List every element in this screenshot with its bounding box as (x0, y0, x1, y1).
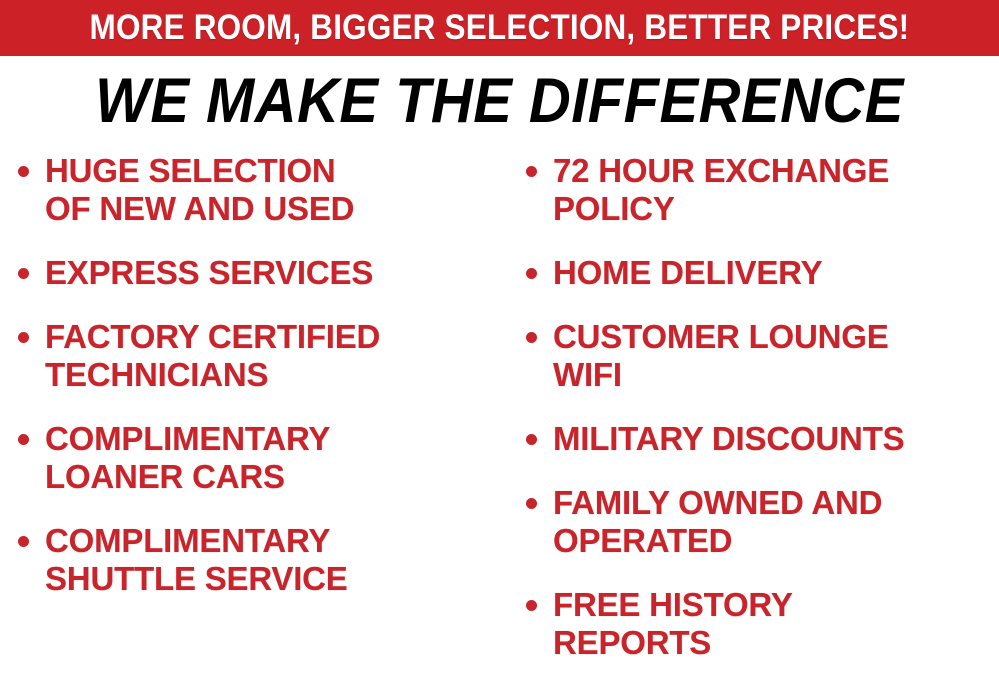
list-item: FACTORY CERTIFIED TECHNICIANS (18, 318, 508, 394)
list-item: 72 HOUR EXCHANGE POLICY (526, 152, 999, 228)
bullet-dot-icon (526, 166, 537, 177)
list-item: FAMILY OWNED AND OPERATED (526, 484, 999, 560)
list-item: COMPLIMENTARY SHUTTLE SERVICE (18, 522, 508, 598)
list-item-label: COMPLIMENTARY LOANER CARS (45, 420, 330, 496)
list-item-label: FAMILY OWNED AND OPERATED (553, 484, 882, 560)
bullet-dot-icon (526, 332, 537, 343)
feature-columns: HUGE SELECTION OF NEW AND USED EXPRESS S… (0, 152, 999, 692)
list-item: CUSTOMER LOUNGE WIFI (526, 318, 999, 394)
list-item: COMPLIMENTARY LOANER CARS (18, 420, 508, 496)
bullet-dot-icon (526, 434, 537, 445)
list-item: HUGE SELECTION OF NEW AND USED (18, 152, 508, 228)
bullet-dot-icon (18, 434, 29, 445)
list-item-label: CUSTOMER LOUNGE WIFI (553, 318, 889, 394)
list-item: EXPRESS SERVICES (18, 254, 508, 292)
list-item-label: FACTORY CERTIFIED TECHNICIANS (45, 318, 380, 394)
bullet-dot-icon (526, 268, 537, 279)
feature-column-left: HUGE SELECTION OF NEW AND USED EXPRESS S… (0, 152, 508, 624)
feature-column-right: 72 HOUR EXCHANGE POLICY HOME DELIVERY CU… (508, 152, 999, 688)
list-item-label: EXPRESS SERVICES (45, 254, 373, 292)
promo-banner: MORE ROOM, BIGGER SELECTION, BETTER PRIC… (0, 0, 999, 56)
bullet-dot-icon (18, 166, 29, 177)
bullet-dot-icon (18, 332, 29, 343)
list-item-label: 72 HOUR EXCHANGE POLICY (553, 152, 889, 228)
headline-container: WE MAKE THE DIFFERENCE (0, 60, 999, 142)
list-item-label: MILITARY DISCOUNTS (553, 420, 904, 458)
list-item-label: COMPLIMENTARY SHUTTLE SERVICE (45, 522, 348, 598)
list-item: MILITARY DISCOUNTS (526, 420, 999, 458)
list-item-label: FREE HISTORY REPORTS (553, 586, 793, 662)
bullet-dot-icon (526, 498, 537, 509)
list-item-label: HOME DELIVERY (553, 254, 822, 292)
list-item: HOME DELIVERY (526, 254, 999, 292)
promo-banner-text: MORE ROOM, BIGGER SELECTION, BETTER PRIC… (90, 10, 910, 46)
list-item-label: HUGE SELECTION OF NEW AND USED (45, 152, 354, 228)
bullet-dot-icon (526, 600, 537, 611)
list-item: FREE HISTORY REPORTS (526, 586, 999, 662)
page-title: WE MAKE THE DIFFERENCE (95, 65, 904, 137)
advertisement-banner: MORE ROOM, BIGGER SELECTION, BETTER PRIC… (0, 0, 999, 692)
bullet-dot-icon (18, 536, 29, 547)
bullet-dot-icon (18, 268, 29, 279)
